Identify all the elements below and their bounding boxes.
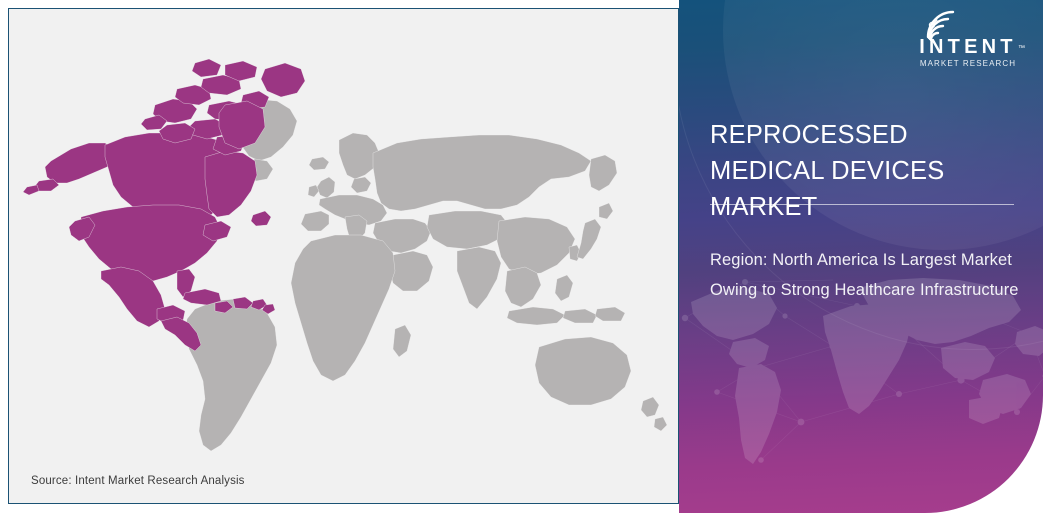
infographic-root: Source: Intent Market Research Analysis [0,0,1043,513]
info-panel-content: INTENT ™ MARKET RESEARCH REPROCESSED MED… [679,0,1043,513]
world-map-canvas [9,9,679,479]
trademark-icon: ™ [1018,39,1025,59]
logo-wordmark-text: INTENT [919,36,1016,58]
world-map-panel: Source: Intent Market Research Analysis [8,8,679,504]
landmasses-highlighted-north-america [23,59,305,351]
panel-subtitle: Region: North America Is Largest Market … [710,245,1020,305]
logo-tagline: MARKET RESEARCH [905,59,1023,68]
brand-logo[interactable]: INTENT ™ MARKET RESEARCH [905,10,1023,68]
page-title: REPROCESSED MEDICAL DEVICES MARKET [710,117,1010,225]
logo-wordmark: INTENT ™ [905,37,1023,57]
landmasses-gray [185,99,667,451]
world-map-svg [9,9,679,479]
source-label: Source: Intent Market Research Analysis [31,475,245,487]
info-panel: INTENT ™ MARKET RESEARCH REPROCESSED MED… [679,0,1043,513]
title-divider [710,204,1014,205]
